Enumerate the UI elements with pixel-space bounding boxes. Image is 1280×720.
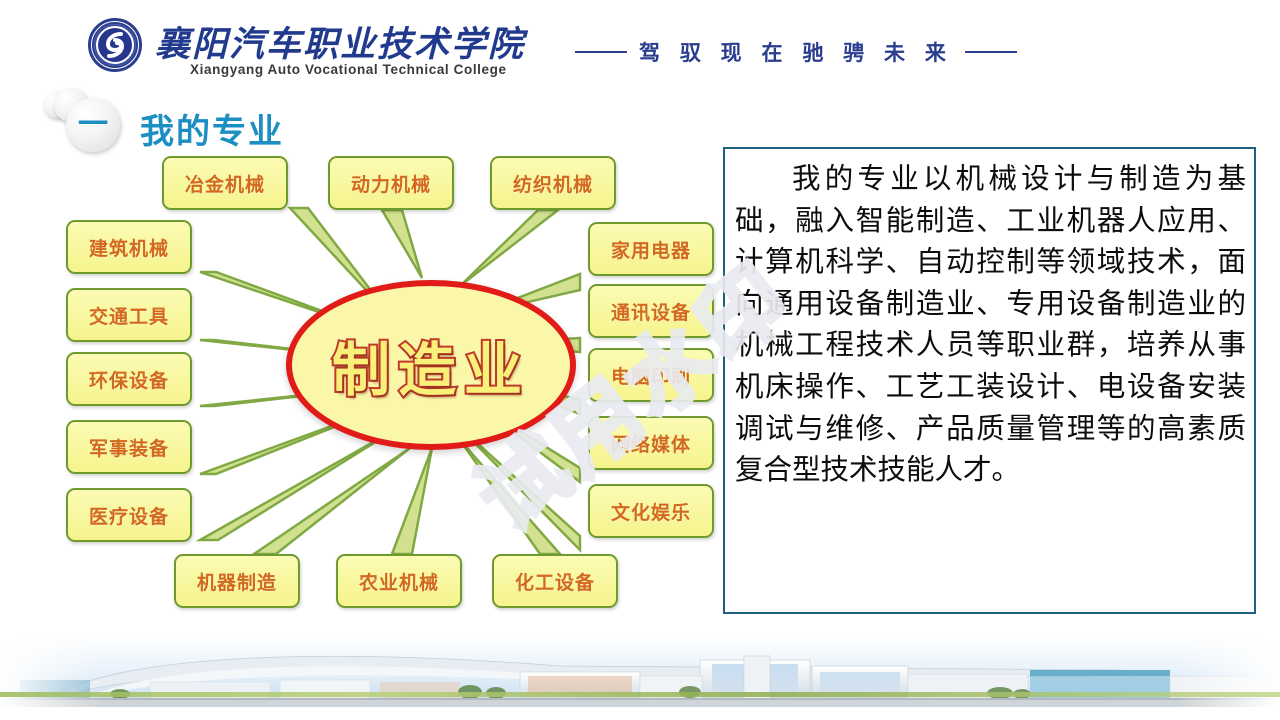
slide-root: 襄阳汽车职业技术学院 Xiangyang Auto Vocational Tec… <box>0 0 1280 720</box>
diagram-node[interactable]: 军事装备 <box>66 420 192 474</box>
diagram-node[interactable]: 电脑印刷 <box>588 348 714 402</box>
diagram-node[interactable]: 交通工具 <box>66 288 192 342</box>
node-label: 机器制造 <box>197 568 277 595</box>
node-label: 环保设备 <box>89 366 169 393</box>
diagram-node[interactable]: 医疗设备 <box>66 488 192 542</box>
node-label: 纺织机械 <box>513 170 593 197</box>
node-label: 建筑机械 <box>89 234 169 261</box>
node-label: 家用电器 <box>611 236 691 263</box>
node-label: 医疗设备 <box>89 502 169 529</box>
header-tagline: 驾 驭 现 在 驰 骋 未 来 <box>575 38 1065 66</box>
slide-header: 襄阳汽车职业技术学院 Xiangyang Auto Vocational Tec… <box>0 0 1280 88</box>
diagram-node[interactable]: 文化娱乐 <box>588 484 714 538</box>
tagline-text: 驾 驭 现 在 驰 骋 未 来 <box>639 37 953 67</box>
hub-label: 制造业 <box>332 323 530 407</box>
node-label: 网络媒体 <box>611 430 691 457</box>
node-label: 文化娱乐 <box>611 498 691 525</box>
college-emblem-icon <box>88 18 142 72</box>
diagram-node[interactable]: 环保设备 <box>66 352 192 406</box>
tagline-rule-right <box>965 51 1017 53</box>
diagram-node[interactable]: 化工设备 <box>492 554 618 608</box>
diagram-hub: 制造业 <box>286 280 576 450</box>
diagram-node[interactable]: 农业机械 <box>336 554 462 608</box>
campus-photo-banner <box>0 636 1280 720</box>
page-title: 我的专业 <box>140 104 284 153</box>
college-name-en: Xiangyang Auto Vocational Technical Coll… <box>190 62 507 77</box>
section-number: 一 <box>66 98 120 152</box>
diagram-node[interactable]: 纺织机械 <box>490 156 616 210</box>
manufacturing-mindmap: 制造业 冶金机械 动力机械 纺织机械 建筑机械 家用电器 交通工具 通讯设备 环… <box>40 148 720 628</box>
diagram-node[interactable]: 通讯设备 <box>588 284 714 338</box>
tagline-rule-left <box>575 51 627 53</box>
node-label: 动力机械 <box>351 170 431 197</box>
node-label: 农业机械 <box>359 568 439 595</box>
diagram-node[interactable]: 家用电器 <box>588 222 714 276</box>
node-label: 交通工具 <box>89 302 169 329</box>
diagram-node[interactable]: 网络媒体 <box>588 416 714 470</box>
banner-campus-illustration <box>0 636 1280 720</box>
node-label: 冶金机械 <box>185 170 265 197</box>
node-label: 通讯设备 <box>611 298 691 325</box>
diagram-node[interactable]: 机器制造 <box>174 554 300 608</box>
node-label: 军事装备 <box>89 434 169 461</box>
college-name-cn: 襄阳汽车职业技术学院 <box>155 16 525 67</box>
banner-green-strip <box>0 692 1280 697</box>
diagram-node[interactable]: 冶金机械 <box>162 156 288 210</box>
diagram-node[interactable]: 建筑机械 <box>66 220 192 274</box>
node-label: 化工设备 <box>515 568 595 595</box>
node-label: 电脑印刷 <box>611 362 691 389</box>
description-panel: 我的专业以机械设计与制造为基础，融入智能制造、工业机器人应用、计算机科学、自动控… <box>723 147 1256 614</box>
diagram-node[interactable]: 动力机械 <box>328 156 454 210</box>
description-text: 我的专业以机械设计与制造为基础，融入智能制造、工业机器人应用、计算机科学、自动控… <box>735 159 1246 492</box>
